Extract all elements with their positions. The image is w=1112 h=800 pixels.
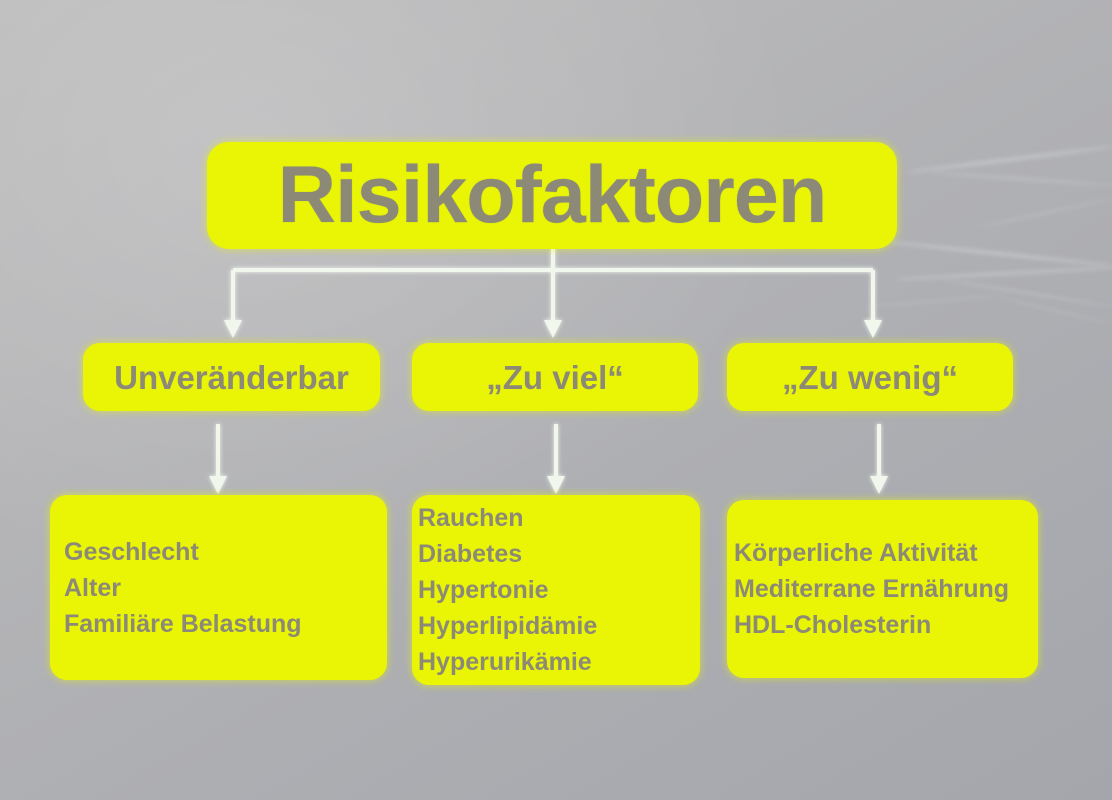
smoke-wisp-icon: [1001, 297, 1112, 325]
list-item: Hyperlipidämie: [418, 608, 700, 644]
list-item: Familiäre Belastung: [64, 606, 387, 642]
list-item: Geschlecht: [64, 534, 387, 570]
list-item: Hyperurikämie: [418, 644, 700, 680]
category-label: „Zu viel“: [486, 361, 624, 394]
list-box-zu-viel: Rauchen Diabetes Hypertonie Hyperlipidäm…: [412, 495, 700, 685]
smoke-wisp-icon: [906, 145, 1112, 174]
arrowhead-to-zu-wenig: [864, 320, 882, 338]
slide-title-box: Risikofaktoren: [207, 142, 897, 249]
list-item: Hypertonie: [418, 572, 700, 608]
arrowhead-to-unveraenderbar: [224, 320, 242, 338]
smoke-wisp-icon: [880, 240, 1112, 268]
smoke-wisp-icon: [976, 197, 1112, 228]
category-label: „Zu wenig“: [782, 361, 958, 394]
list-item: Alter: [64, 570, 387, 606]
category-box-zu-wenig: „Zu wenig“: [727, 343, 1013, 411]
list-item: Mediterrane Ernährung: [734, 571, 1038, 607]
smoke-wisp-icon: [930, 172, 1112, 187]
list-item: Diabetes: [418, 536, 700, 572]
page-title: Risikofaktoren: [278, 155, 827, 236]
arrowhead-zu-wenig-to-list: [870, 476, 888, 494]
smoke-wisp-icon: [941, 278, 1112, 307]
category-label: Unveränderbar: [114, 361, 349, 394]
arrowhead-zu-viel-to-list: [547, 476, 565, 494]
list-box-zu-wenig: Körperliche Aktivität Mediterrane Ernähr…: [727, 500, 1038, 678]
list-item: HDL-Cholesterin: [734, 607, 1038, 643]
arrowhead-to-zu-viel: [544, 320, 562, 338]
arrowhead-unveraenderbar-to-list: [209, 476, 227, 494]
list-item: Rauchen: [418, 500, 700, 536]
smoke-wisp-icon: [895, 266, 1112, 280]
category-box-unveraenderbar: Unveränderbar: [83, 343, 380, 411]
slide-canvas: Risikofaktoren Unveränderbar „Zu viel“ „…: [0, 0, 1112, 800]
list-box-unveraenderbar: Geschlecht Alter Familiäre Belastung: [50, 495, 387, 680]
category-box-zu-viel: „Zu viel“: [412, 343, 698, 411]
list-item: Körperliche Aktivität: [734, 535, 1038, 571]
smoke-wisp-icon: [860, 293, 1010, 308]
